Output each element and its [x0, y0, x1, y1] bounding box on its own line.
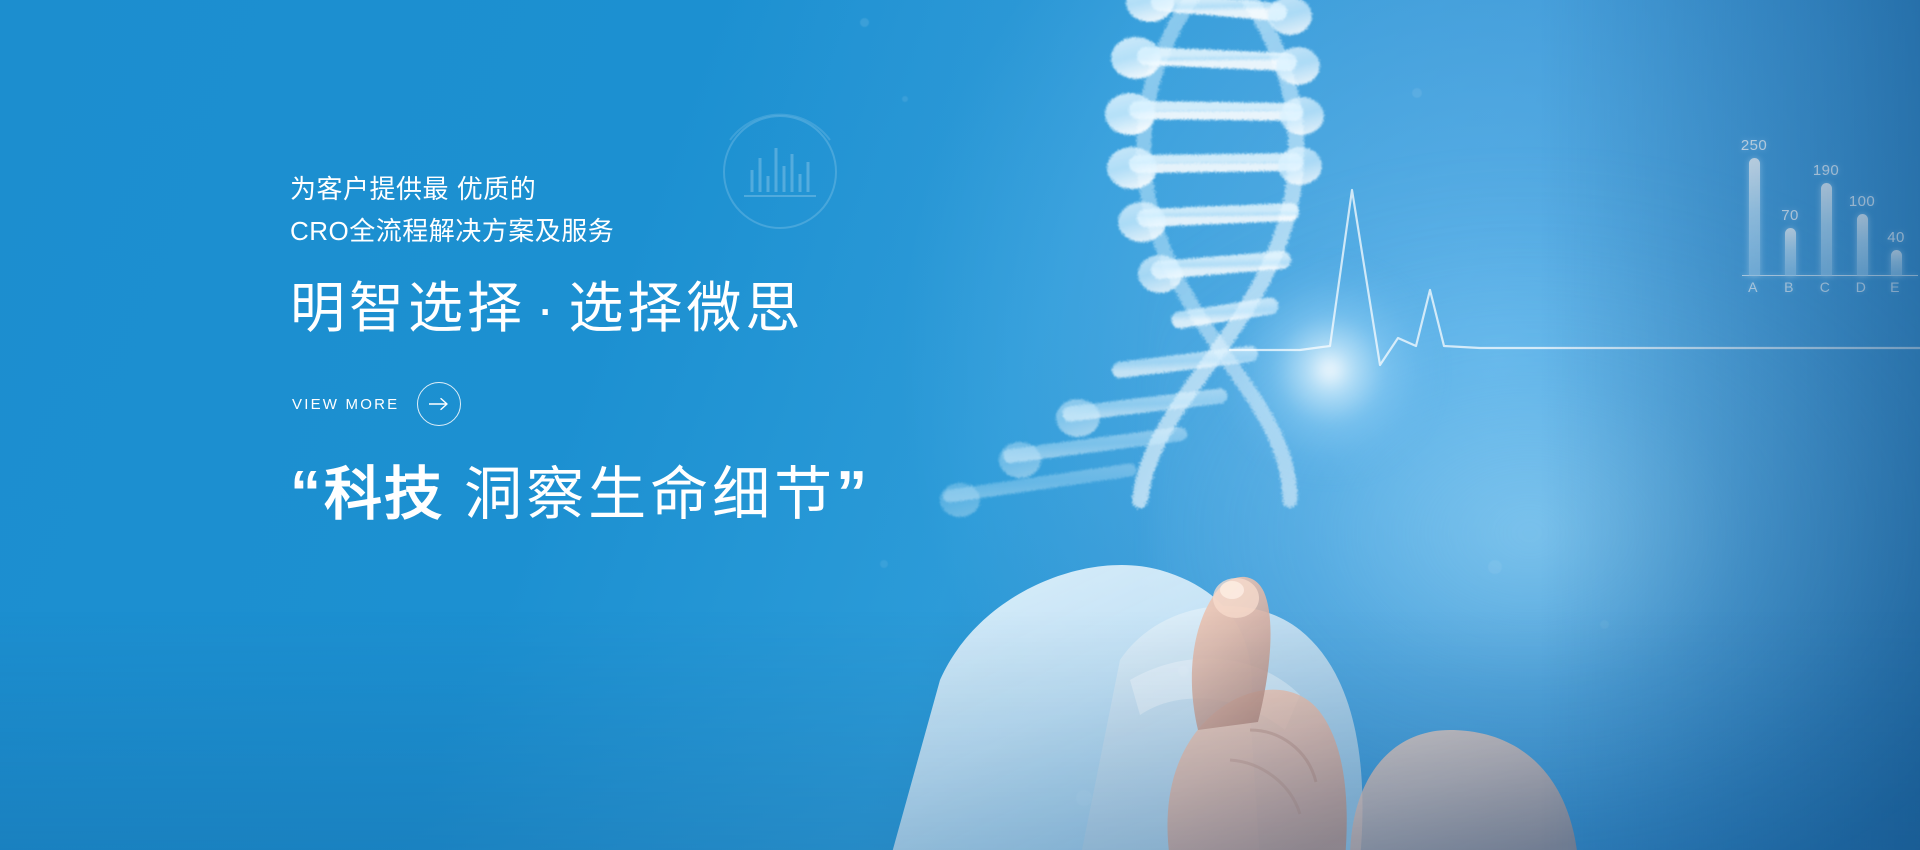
bar-d	[1857, 214, 1868, 276]
chart-category-labels: A B C D E	[1730, 276, 1902, 298]
hero-banner: 250 70 190 100 40 A B C D	[0, 0, 1920, 850]
bar-value-label: 40	[1887, 229, 1905, 246]
bar-value-label: 190	[1813, 162, 1839, 179]
quote-strong-text: 科技	[324, 462, 444, 527]
ecg-waveform-icon	[1230, 150, 1920, 410]
bar-column: 40	[1890, 229, 1902, 276]
chart-label-a: A	[1746, 279, 1760, 295]
bar-column: 100	[1856, 193, 1868, 276]
hero-quote: “科技 洞察生命细节”	[290, 455, 870, 534]
page-title: 明智选择·选择微思	[290, 272, 804, 344]
light-flare	[1215, 255, 1445, 485]
quote-open-mark: “	[290, 459, 324, 528]
bar-value-label: 100	[1849, 193, 1875, 210]
bar-column: 70	[1784, 207, 1796, 276]
bar-a	[1749, 158, 1760, 276]
bar-column: 250	[1748, 137, 1760, 276]
bokeh-particle	[1178, 666, 1189, 677]
bokeh-particle	[1412, 88, 1422, 98]
subheading-line-1: 为客户提供最 优质的	[290, 168, 614, 210]
headline-separator: ·	[526, 277, 568, 339]
chart-label-c: C	[1818, 279, 1832, 295]
right-edge-shade	[1540, 0, 1920, 850]
bokeh-particle	[1076, 790, 1092, 806]
bokeh-particle	[1488, 560, 1502, 574]
hero-copy: 为客户提供最 优质的 CRO全流程解决方案及服务 明智选择·选择微思 VIEW …	[290, 0, 1010, 850]
bar-value-label: 70	[1781, 207, 1799, 224]
arrow-right-icon[interactable]	[417, 382, 461, 426]
quote-close-mark: ”	[836, 459, 870, 528]
bar-value-label: 250	[1741, 137, 1767, 154]
headline-part-2: 选择微思	[568, 277, 804, 339]
view-more-button[interactable]: VIEW MORE	[292, 382, 461, 426]
bokeh-particle	[1600, 620, 1609, 629]
subheading-line-2: CRO全流程解决方案及服务	[290, 210, 614, 252]
headline-part-1: 明智选择	[290, 277, 526, 339]
ambient-glow	[1152, 153, 1920, 850]
quote-light-text: 洞察生命细节	[444, 462, 836, 527]
chart-plot-area: 250 70 190 100 40	[1730, 148, 1902, 276]
bar-b	[1785, 228, 1796, 276]
view-more-label: VIEW MORE	[292, 396, 399, 413]
bar-chart-overlay: 250 70 190 100 40 A B C D	[1718, 148, 1918, 328]
chart-label-d: D	[1854, 279, 1868, 295]
hero-subheading: 为客户提供最 优质的 CRO全流程解决方案及服务	[290, 168, 614, 252]
chart-baseline	[1742, 275, 1918, 276]
bar-c	[1821, 183, 1832, 276]
chart-label-b: B	[1782, 279, 1796, 295]
chart-label-e: E	[1888, 279, 1902, 295]
bar-e	[1891, 250, 1902, 276]
bar-column: 190	[1820, 162, 1832, 276]
